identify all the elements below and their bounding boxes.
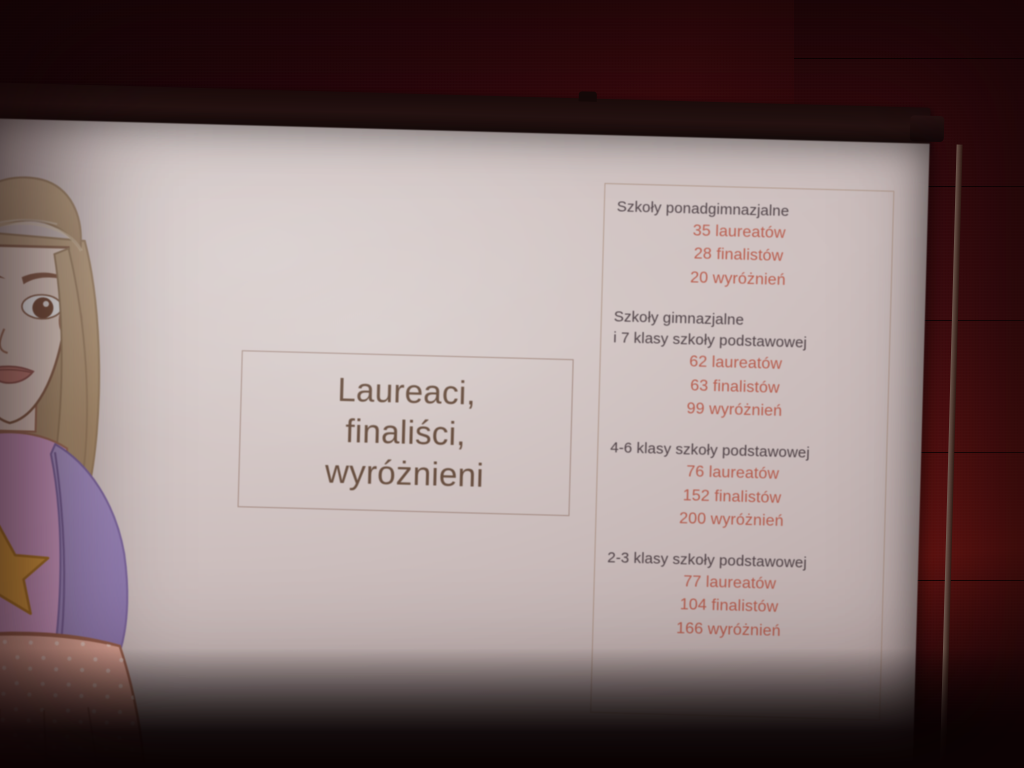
statistics-box: Szkoły ponadgimnazjalne 35 laureatów 28 … xyxy=(590,183,894,721)
foreground-shadow xyxy=(0,648,1024,768)
title-line-3: wyróżnieni xyxy=(325,451,485,496)
stat-group-klasy-2-3: 2-3 klasy szkoły podstawowej 77 laureató… xyxy=(605,547,871,645)
stat-group-ponadgimnazjalne: Szkoły ponadgimnazjalne 35 laureatów 28 … xyxy=(615,196,881,294)
title-line-2: finaliści, xyxy=(345,411,466,455)
roller-end-knob xyxy=(910,115,945,142)
stat-group-gimnazjalne: Szkoły gimnazjalne i 7 klasy szkoły pods… xyxy=(611,306,878,425)
photo-scene: Laureaci, finaliści, wyróżnieni Szkoły p… xyxy=(0,0,1024,768)
roller-center-tab xyxy=(579,91,597,101)
stat-group-klasy-4-6: 4-6 klasy szkoły podstawowej 76 laureató… xyxy=(608,437,874,535)
slide-title-box: Laureaci, finaliści, wyróżnieni xyxy=(238,350,574,516)
title-line-1: Laureaci, xyxy=(337,370,477,415)
